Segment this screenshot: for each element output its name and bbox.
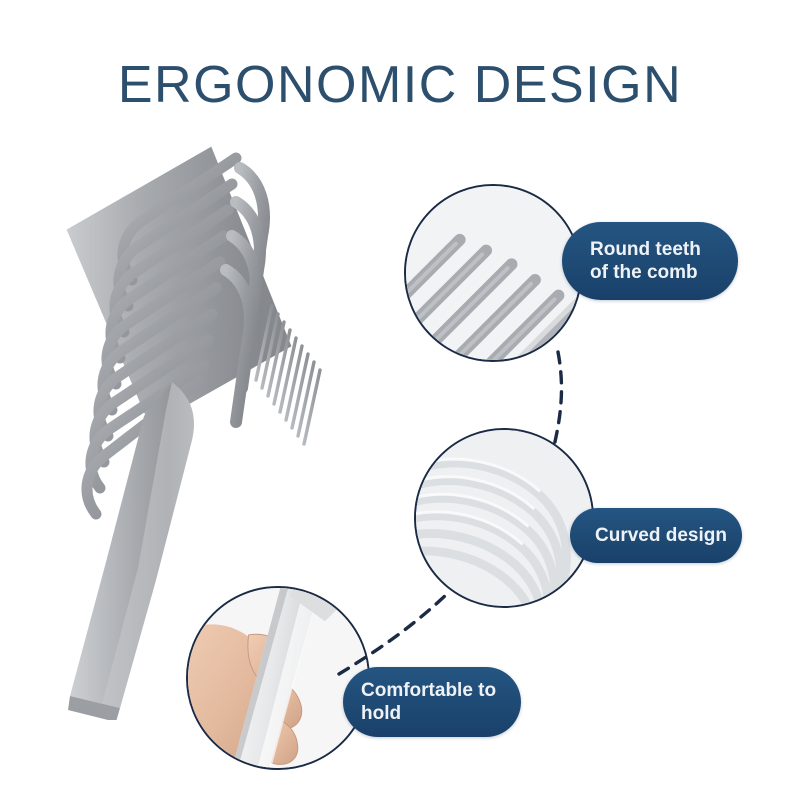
page-title: ERGONOMIC DESIGN [0, 55, 800, 115]
label-round-teeth-line1: Round teeth [590, 238, 738, 261]
label-curved-design-line1: Curved design [595, 524, 742, 547]
callout-circle-round-teeth [404, 184, 582, 362]
label-comfortable-to-hold-line2: hold [361, 702, 521, 725]
infographic-canvas: ERGONOMIC DESIGN [0, 0, 800, 800]
label-curved-design: Curved design [570, 508, 742, 563]
label-round-teeth: Round teeth of the comb [562, 222, 738, 300]
label-comfortable-to-hold: Comfortable to hold [343, 667, 521, 737]
callout-circle-comfortable-to-hold [186, 586, 370, 770]
label-comfortable-to-hold-line1: Comfortable to [361, 679, 521, 702]
callout-circle-curved-design [414, 428, 594, 608]
label-round-teeth-line2: of the comb [590, 261, 738, 284]
